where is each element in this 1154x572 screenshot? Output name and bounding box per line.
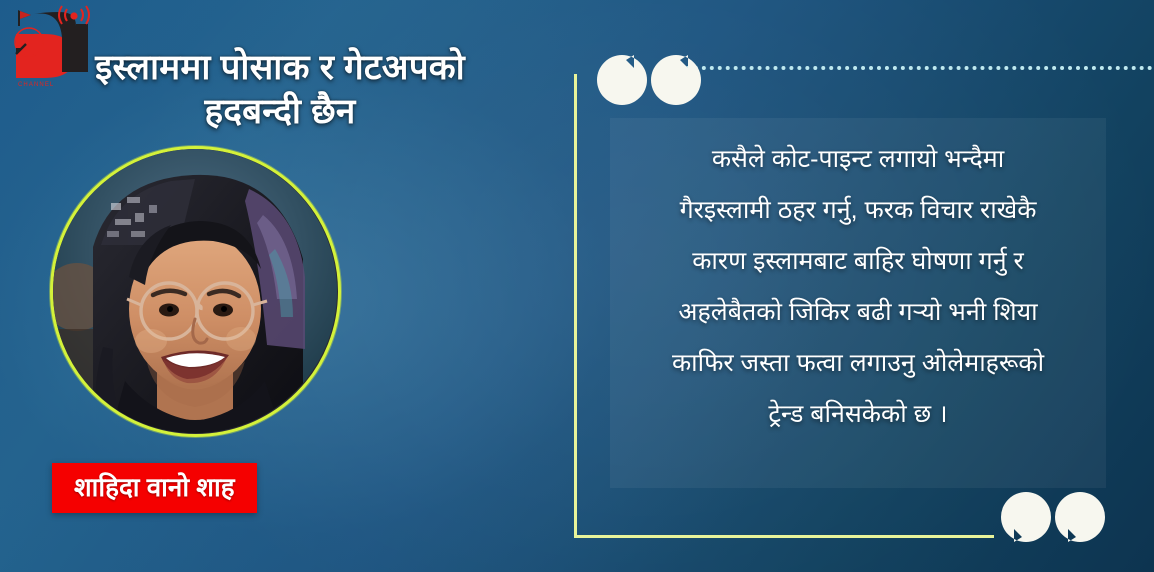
quote-line: अहलेबैतको जिकिर बढी गर्‍यो भनी शिया <box>600 287 1116 338</box>
quote-line: गैरइस्लामी ठहर गर्नु, फरक विचार राखेकै <box>600 185 1116 236</box>
avatar <box>50 146 341 437</box>
page-title: इस्लाममा पोसाक र गेटअपको हदबन्दी छैन <box>0 46 560 134</box>
headline-line-1: इस्लाममा पोसाक र गेटअपको <box>95 48 465 87</box>
quote-open-icon <box>596 54 648 106</box>
quote-close-icon <box>1054 491 1106 543</box>
quote-line: ट्रेन्ड बनिसकेको छ । <box>600 389 1116 440</box>
quote-close-icon <box>1000 491 1052 543</box>
portrait-image <box>53 149 338 434</box>
headline-line-2: हदबन्दी छैन <box>0 90 560 134</box>
quote-text: कसैले कोट-पाइन्ट लगायो भन्दैमा गैरइस्लाम… <box>600 134 1116 440</box>
social-quote-card: CHANNEL इस्लाममा पोसाक र गेटअपको हदबन्दी… <box>0 0 1154 572</box>
status-badge: शाहिदा वानो शाह <box>52 463 257 513</box>
quote-line: कारण इस्लामबाट बाहिर घोषणा गर्नु र <box>600 236 1116 287</box>
quote-open-icon <box>650 54 702 106</box>
quote-section: कसैले कोट-पाइन्ट लगायो भन्दैमा गैरइस्लाम… <box>560 48 1154 558</box>
quote-line: काफिर जस्ता फत्वा लगाउनु ओलेमाहरूको <box>600 338 1116 389</box>
quote-line: कसैले कोट-पाइन्ट लगायो भन्दैमा <box>600 134 1116 185</box>
